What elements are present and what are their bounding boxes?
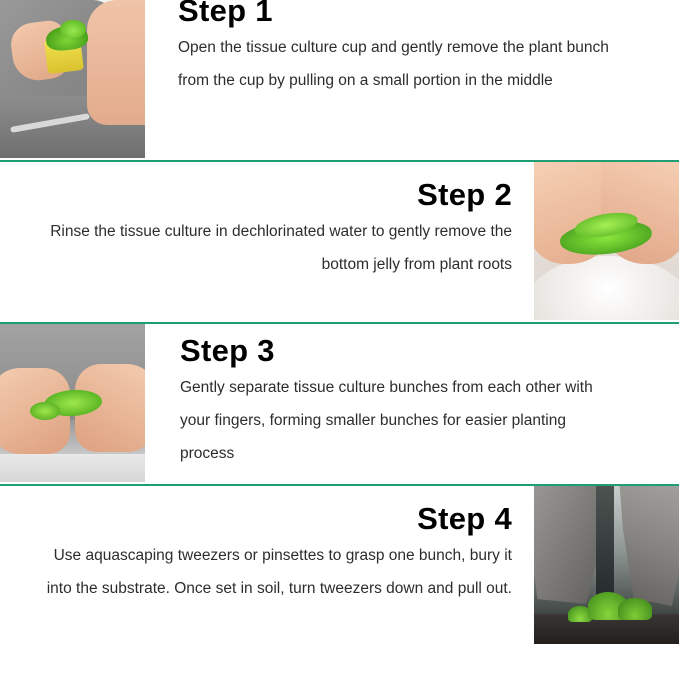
- step-body: Rinse the tissue culture in dechlorinate…: [40, 212, 512, 281]
- step-block-4: Step 4 Use aquascaping tweezers or pinse…: [0, 486, 679, 646]
- photo-rinsing-tissue-culture-in-bowl: [534, 162, 679, 320]
- green-plant-secondary-shape: [30, 402, 60, 420]
- step-title: Step 4: [40, 502, 512, 536]
- rock-gap-shape: [596, 486, 614, 604]
- step-body: Gently separate tissue culture bunches f…: [180, 368, 621, 470]
- forearm-shape: [87, 0, 145, 125]
- step-body: Open the tissue culture cup and gently r…: [178, 28, 621, 97]
- green-plant-highlight-shape: [60, 20, 86, 38]
- step-body: Use aquascaping tweezers or pinsettes to…: [40, 536, 512, 605]
- step-block-1: Step 1 Open the tissue culture cup and g…: [0, 0, 679, 160]
- photo-hands-separating-plant-bunches: [0, 324, 145, 482]
- step-block-2: Step 2 Rinse the tissue culture in dechl…: [0, 162, 679, 322]
- step-title: Step 1: [178, 0, 621, 28]
- table-surface-shape: [0, 454, 145, 482]
- planted-stem-right-shape: [618, 598, 652, 620]
- photo-hand-holding-tissue-culture-cup: [0, 0, 145, 158]
- step-title: Step 2: [40, 178, 512, 212]
- step-block-3: Step 3 Gently separate tissue culture bu…: [0, 324, 679, 484]
- step-title: Step 3: [180, 334, 621, 368]
- photo-aquascape-rocks-with-planted-stems: [534, 486, 679, 644]
- instruction-page: Step 1 Open the tissue culture cup and g…: [0, 0, 679, 683]
